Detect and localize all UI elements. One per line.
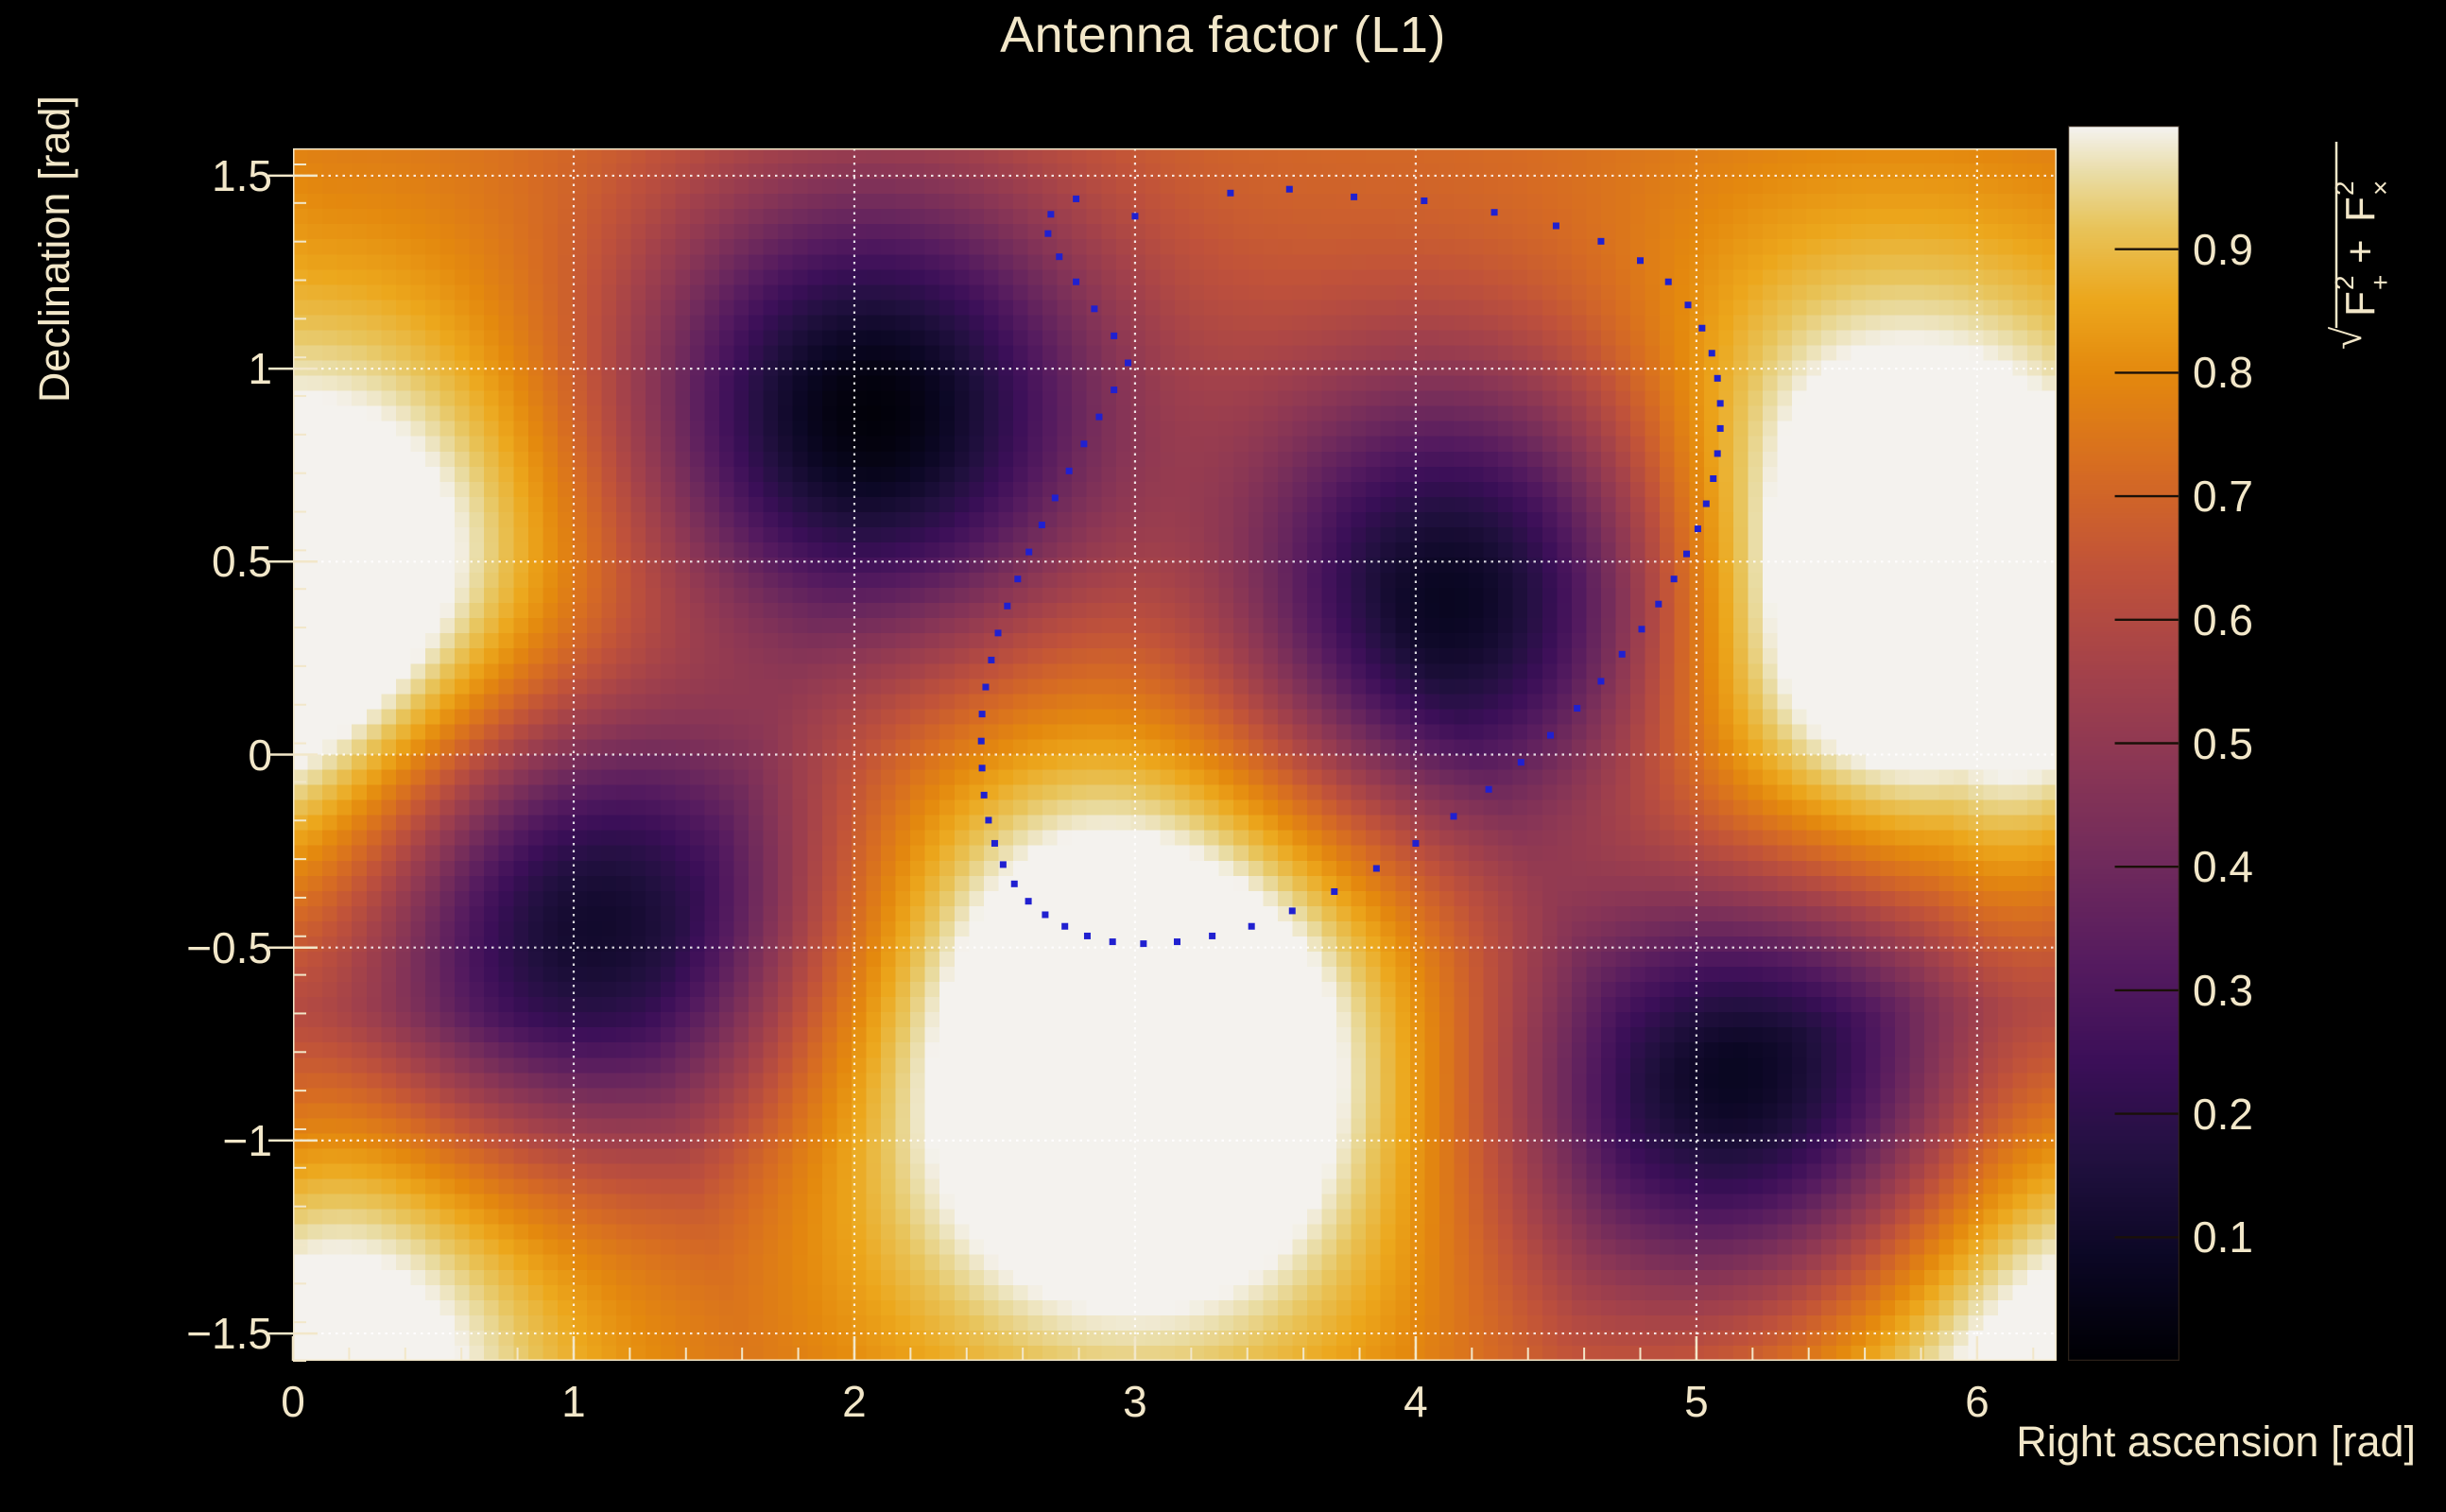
svg-text:F: F	[2337, 291, 2384, 317]
y-axis-title: Declination [rad]	[30, 95, 79, 417]
heatmap-image	[293, 148, 2057, 1361]
y-tick-label: 1	[248, 343, 272, 394]
x-tick-label: 6	[1965, 1376, 1990, 1427]
colorbar-tick-label: 0.5	[2193, 718, 2253, 769]
y-tick-label: −0.5	[186, 922, 272, 973]
plot-canvas: Antenna factor (L1) 0123456 1.510.50−0.5…	[0, 0, 2446, 1512]
svg-text:×: ×	[2366, 180, 2395, 196]
colorbar-tick-label: 0.6	[2193, 594, 2253, 645]
colorbar-tick-label: 0.2	[2193, 1089, 2253, 1140]
colorbar-gradient	[2068, 126, 2179, 1361]
colorbar-tick-label: 0.1	[2193, 1211, 2253, 1263]
colorbar-tick-label: 0.4	[2193, 841, 2253, 892]
x-tick-label: 5	[1684, 1376, 1709, 1427]
y-tick-label: 0	[248, 730, 272, 781]
svg-text:+: +	[2337, 239, 2384, 264]
x-tick-label: 1	[561, 1376, 586, 1427]
page-title: Antenna factor (L1)	[0, 6, 2446, 64]
x-tick-label: 4	[1404, 1376, 1428, 1427]
colorbar-tick-label: 0.7	[2193, 471, 2253, 522]
y-tick-label: −1	[223, 1115, 272, 1166]
colorbar-tick-label: 0.8	[2193, 347, 2253, 398]
x-tick-label: 0	[281, 1376, 305, 1427]
colorbar-tick-label: 0.9	[2193, 224, 2253, 275]
svg-text:F: F	[2337, 197, 2384, 222]
x-tick-label: 3	[1123, 1376, 1147, 1427]
colorbar	[2068, 126, 2179, 1361]
svg-text:2: 2	[2330, 275, 2359, 290]
x-tick-label: 2	[842, 1376, 867, 1427]
x-axis-title: Right ascension [rad]	[2016, 1417, 2416, 1467]
svg-text:+: +	[2366, 275, 2395, 290]
colorbar-tick-label: 0.3	[2193, 965, 2253, 1016]
svg-text:2: 2	[2330, 180, 2359, 196]
plot-frame	[293, 148, 2057, 1361]
y-tick-label: 1.5	[212, 150, 272, 201]
y-tick-label: −1.5	[186, 1308, 272, 1359]
colorbar-title: √ F 2 + + F 2 ×	[2264, 123, 2446, 350]
y-tick-label: 0.5	[212, 536, 272, 587]
svg-text:√: √	[2324, 326, 2370, 350]
